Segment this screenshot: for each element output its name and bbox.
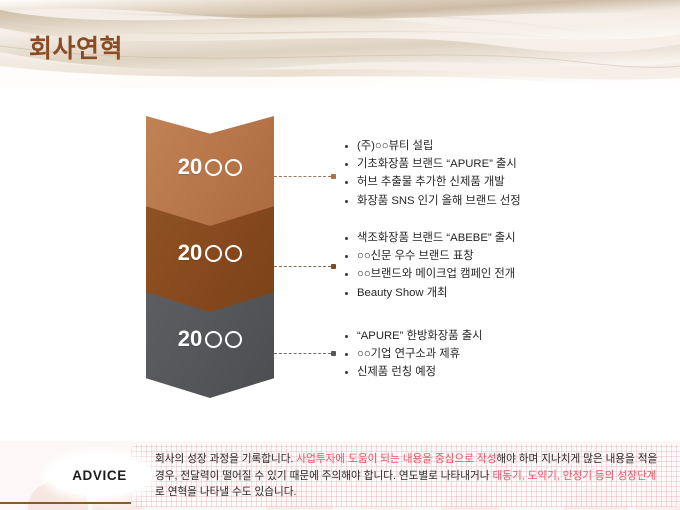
timeline-chevron-stack: 20 20 20 bbox=[146, 116, 274, 398]
list-item: Beauty Show 개최 bbox=[343, 284, 653, 302]
advice-segment-highlight: 사업투자에 도움이 되는 내용을 중심으로 작성 bbox=[296, 453, 496, 465]
list-item: 허브 추출물 추가한 신제품 개발 bbox=[343, 173, 653, 191]
year-prefix-2: 20 bbox=[178, 240, 202, 266]
header-banner: 회사연혁 bbox=[0, 0, 680, 88]
list-item: ○○브랜드와 메이크업 캠페인 전개 bbox=[343, 265, 653, 283]
connector-dash-1 bbox=[274, 176, 331, 177]
list-item: 색조화장품 브랜드 “ABEBE” 출시 bbox=[343, 229, 653, 247]
year-circle-icon bbox=[205, 159, 222, 176]
list-item: 신제품 런칭 예정 bbox=[343, 363, 653, 381]
advice-text: 회사의 성장 과정을 기록합니다. 사업투자에 도움이 되는 내용을 중심으로 … bbox=[155, 451, 660, 501]
connector-dot-3 bbox=[331, 351, 336, 356]
year-circle-icon bbox=[205, 245, 222, 262]
list-item: (주)○○뷰티 설립 bbox=[343, 137, 653, 155]
list-item: ○○기업 연구소과 제휴 bbox=[343, 345, 653, 363]
timeline-details-3: “APURE” 한방화장품 출시 ○○기업 연구소과 제휴 신제품 런칭 예정 bbox=[343, 327, 653, 382]
connector-dash-3 bbox=[274, 353, 331, 354]
year-prefix-1: 20 bbox=[178, 154, 202, 180]
connector-dot-1 bbox=[331, 174, 336, 179]
list-item: “APURE” 한방화장품 출시 bbox=[343, 327, 653, 345]
connector-dot-2 bbox=[331, 264, 336, 269]
year-label-2: 20 bbox=[178, 240, 242, 266]
connector-line-2 bbox=[274, 266, 336, 267]
connector-line-3 bbox=[274, 353, 336, 354]
page-title: 회사연혁 bbox=[29, 29, 123, 65]
year-circle-icon bbox=[225, 245, 242, 262]
year-prefix-3: 20 bbox=[178, 326, 202, 352]
connector-line-1 bbox=[274, 176, 336, 177]
year-circle-icon bbox=[225, 331, 242, 348]
advice-segment: 회사의 성장 과정을 기록합니다. bbox=[155, 453, 296, 465]
list-item: 화장품 SNS 인기 올해 브랜드 선정 bbox=[343, 192, 653, 210]
connector-dash-2 bbox=[274, 266, 331, 267]
timeline-details-1: (주)○○뷰티 설립 기초화장품 브랜드 “APURE” 출시 허브 추출물 추… bbox=[343, 137, 653, 210]
advice-segment: 로 연혁을 나타낼 수도 있습니다. bbox=[155, 486, 296, 498]
advice-label: ADVICE bbox=[72, 468, 127, 483]
year-circle-icon bbox=[205, 331, 222, 348]
advice-badge: ADVICE bbox=[47, 455, 152, 496]
list-item: ○○신문 우수 브랜드 표창 bbox=[343, 247, 653, 265]
advice-footer: ADVICE 회사의 성장 과정을 기록합니다. 사업투자에 도움이 되는 내용… bbox=[0, 441, 680, 510]
advice-segment-highlight: 태동기, 도약기, 안정기 등의 성장단계 bbox=[492, 470, 656, 482]
timeline-details-2: 색조화장품 브랜드 “ABEBE” 출시 ○○신문 우수 브랜드 표창 ○○브랜… bbox=[343, 229, 653, 302]
slide-canvas: 회사연혁 20 20 20 bbox=[0, 0, 680, 510]
timeline-chevron-1[interactable]: 20 bbox=[146, 116, 274, 226]
list-item: 기초화장품 브랜드 “APURE” 출시 bbox=[343, 155, 653, 173]
year-label-1: 20 bbox=[178, 154, 242, 180]
year-label-3: 20 bbox=[178, 326, 242, 352]
advice-underline-rule bbox=[0, 502, 131, 504]
year-circle-icon bbox=[225, 159, 242, 176]
